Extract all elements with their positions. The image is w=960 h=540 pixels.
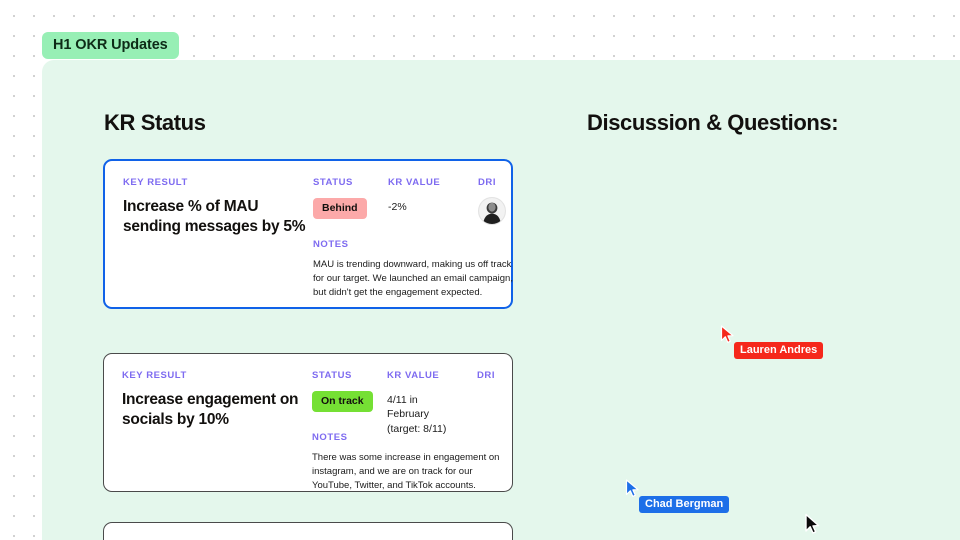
- key-result-column: KEY RESULT Increase engagement on social…: [122, 370, 312, 430]
- board-canvas-panel: KR Status Discussion & Questions: KEY RE…: [42, 60, 960, 540]
- column-label-kr-value: KR VALUE: [387, 370, 461, 381]
- status-column: STATUS On track: [312, 370, 384, 412]
- avatar[interactable]: [478, 197, 506, 225]
- kr-value-text: -2%: [388, 200, 462, 214]
- column-label-key-result: KEY RESULT: [123, 177, 313, 188]
- kr-card[interactable]: KEY RESULT Increase % of MAU sending mes…: [103, 159, 513, 309]
- board-title-badge[interactable]: H1 OKR Updates: [42, 32, 179, 59]
- cursor-arrow-icon: [625, 479, 641, 499]
- status-badge[interactable]: On track: [312, 391, 373, 412]
- mouse-pointer-icon: [804, 513, 821, 536]
- column-label-dri: DRI: [477, 370, 517, 381]
- column-label-kr-value: KR VALUE: [388, 177, 462, 188]
- column-label-dri: DRI: [478, 177, 518, 188]
- column-label-key-result: KEY RESULT: [122, 370, 312, 381]
- kr-value-column: KR VALUE -2%: [388, 177, 462, 214]
- discussion-questions-heading: Discussion & Questions:: [587, 110, 838, 136]
- status-column: STATUS Behind: [313, 177, 385, 219]
- notes-block: NOTES MAU is trending downward, making u…: [313, 239, 513, 299]
- cursor-arrow-icon: [720, 325, 736, 345]
- dri-column: DRI: [477, 370, 517, 381]
- kr-card[interactable]: On tr: [103, 522, 513, 540]
- kr-value-column: KR VALUE 4/11 in February (target: 8/11): [387, 370, 461, 436]
- key-result-title: Increase % of MAU sending messages by 5%: [123, 197, 313, 237]
- kr-card[interactable]: KEY RESULT Increase engagement on social…: [103, 353, 513, 492]
- column-label-status: STATUS: [313, 177, 385, 188]
- dri-column: DRI: [478, 177, 518, 225]
- avatar-photo-icon: [479, 198, 505, 224]
- key-result-title: Increase engagement on socials by 10%: [122, 390, 312, 430]
- kr-value-text: 4/11 in February (target: 8/11): [387, 393, 461, 436]
- collaborator-name-label: Chad Bergman: [639, 496, 729, 513]
- column-label-notes: NOTES: [313, 239, 513, 250]
- column-label-notes: NOTES: [312, 432, 512, 443]
- notes-text: MAU is trending downward, making us off …: [313, 258, 513, 299]
- notes-block: NOTES There was some increase in engagem…: [312, 432, 512, 492]
- column-label-status: STATUS: [312, 370, 384, 381]
- key-result-column: KEY RESULT Increase % of MAU sending mes…: [123, 177, 313, 237]
- kr-status-heading: KR Status: [104, 110, 206, 136]
- collaborator-name-label: Lauren Andres: [734, 342, 823, 359]
- notes-text: There was some increase in engagement on…: [312, 451, 512, 492]
- status-badge[interactable]: Behind: [313, 198, 367, 219]
